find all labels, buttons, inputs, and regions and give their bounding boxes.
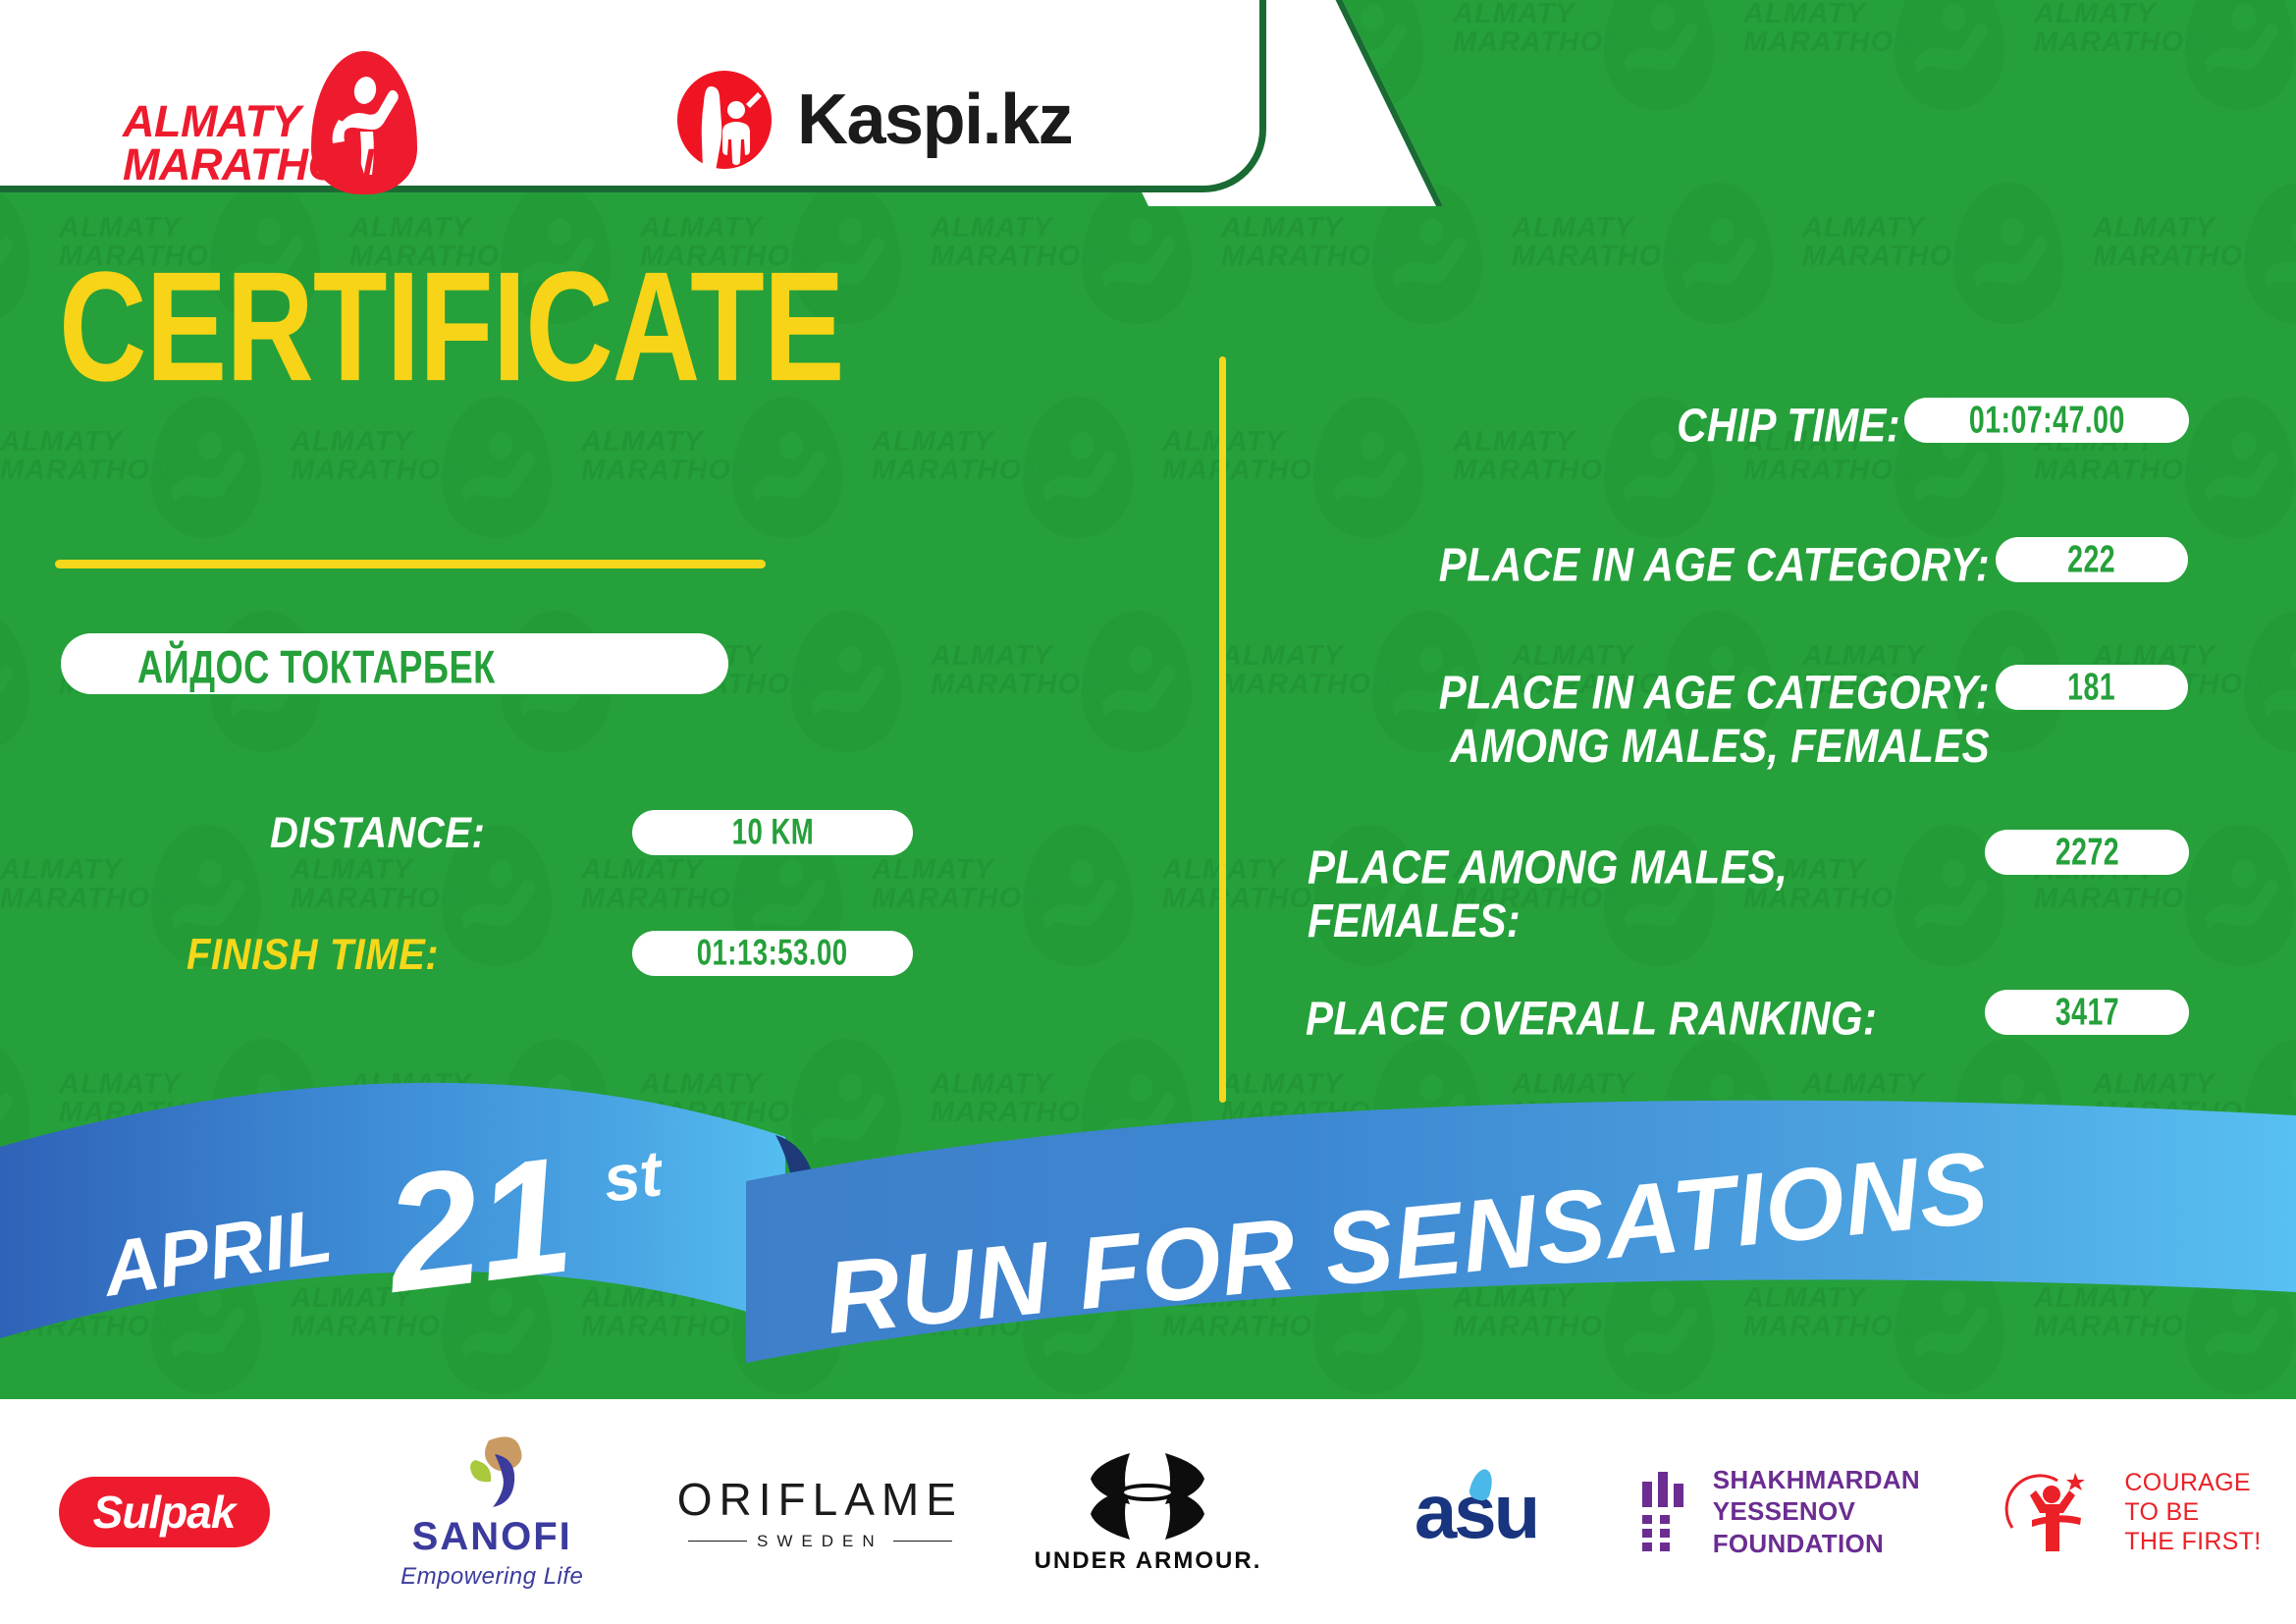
participant-name: АЙДОС ТОКТАРБЕК	[137, 642, 704, 697]
place-age-label: PLACE IN AGE CATEGORY:	[1312, 538, 1990, 591]
under-armour-logo: UNDER ARMOUR.	[1035, 1449, 1262, 1575]
oriflame-subtitle: SWEDEN	[677, 1532, 963, 1551]
oriflame-wordmark: ORIFLAME	[677, 1473, 963, 1526]
header-panel: ALMATY MARATHON Kaspi.kz	[0, 0, 1404, 192]
finish-time-label: FINISH TIME:	[187, 931, 439, 980]
courage-line-3: THE FIRST!	[2124, 1527, 2261, 1556]
kaspi-logo: Kaspi.kz	[677, 65, 1072, 175]
finish-time-value-pill: 01:13:53.00	[632, 931, 913, 976]
sulpak-logo: Sulpak	[59, 1477, 270, 1547]
place-age-gender-label: PLACE IN AGE CATEGORY: AMONG MALES, FEMA…	[1312, 666, 1990, 772]
almaty-marathon-logo: ALMATY MARATHON	[123, 61, 447, 179]
almaty-line: ALMATY	[123, 100, 378, 143]
ribbon-day: 21	[373, 1121, 580, 1327]
certificate-page: ALMATYMARATHONALMATYMARATHONALMATYMARATH…	[0, 0, 2296, 1624]
title-underline	[55, 560, 766, 568]
vertical-divider	[1219, 356, 1226, 1103]
courage-line-2: TO BE	[2124, 1497, 2261, 1527]
chip-time-label: CHIP TIME:	[1311, 399, 1900, 452]
place-age-value: 222	[2068, 538, 2116, 582]
page-title: CERTIFICATE	[59, 249, 775, 406]
chip-time-value-pill: 01:07:47.00	[1904, 398, 2189, 443]
courage-runner-icon	[2002, 1463, 2112, 1561]
sponsor-under-armour: UNDER ARMOUR.	[984, 1434, 1311, 1591]
sponsor-courage: COURAGE TO BE THE FIRST!	[1968, 1434, 2296, 1591]
sanofi-tagline: Empowering Life	[400, 1563, 583, 1591]
sponsor-asu: asu	[1312, 1434, 1640, 1591]
asu-logo: asu	[1415, 1467, 1537, 1556]
kaspi-wordmark: Kaspi.kz	[797, 80, 1072, 160]
sponsor-sanofi: SANOFI Empowering Life	[328, 1434, 656, 1591]
courage-line-1: COURAGE	[2124, 1468, 2261, 1497]
place-overall-value: 3417	[2055, 991, 2118, 1035]
place-age-gender-value: 181	[2068, 666, 2116, 710]
distance-value: 10 KM	[731, 812, 814, 854]
place-age-value-pill: 222	[1996, 537, 2188, 582]
yessenov-wordmark: SHAKHMARDAN YESSENOV FOUNDATION	[1713, 1464, 1968, 1560]
sponsor-sulpak: Sulpak	[0, 1434, 328, 1591]
yessenov-foundation-logo: SHAKHMARDAN YESSENOV FOUNDATION	[1640, 1464, 1968, 1560]
yessenov-mark-icon	[1640, 1470, 1691, 1554]
under-armour-wordmark: UNDER ARMOUR.	[1035, 1547, 1262, 1575]
sanofi-logo: SANOFI Empowering Life	[400, 1433, 583, 1591]
courage-to-be-the-first-logo: COURAGE TO BE THE FIRST!	[2002, 1463, 2261, 1561]
sponsor-oriflame: ORIFLAME SWEDEN	[656, 1434, 984, 1591]
finish-time-value: 01:13:53.00	[697, 933, 848, 975]
divider-line-left	[688, 1541, 747, 1543]
sanofi-wordmark: SANOFI	[400, 1515, 583, 1559]
distance-value-pill: 10 KM	[632, 810, 913, 855]
ribbon-banner: APRIL 21 st RUN FOR SENSATIONS	[0, 1078, 2296, 1402]
marathon-line: MARATHON	[123, 143, 378, 187]
chip-time-value: 01:07:47.00	[1969, 399, 2125, 443]
sponsor-bar: Sulpak SANOFI Empowering Life ORIFLAME S…	[0, 1399, 2296, 1624]
divider-line-right	[893, 1541, 952, 1543]
place-overall-label: PLACE OVERALL RANKING:	[1306, 992, 1993, 1045]
place-among-gender-value: 2272	[2055, 831, 2118, 875]
courage-wordmark: COURAGE TO BE THE FIRST!	[2124, 1468, 2261, 1556]
oriflame-logo: ORIFLAME SWEDEN	[677, 1473, 963, 1551]
distance-label: DISTANCE:	[270, 809, 485, 858]
place-overall-value-pill: 3417	[1985, 990, 2189, 1035]
kaspi-people-icon	[677, 65, 772, 175]
place-among-gender-value-pill: 2272	[1985, 830, 2189, 875]
place-age-gender-value-pill: 181	[1996, 665, 2188, 710]
oriflame-sweden-label: SWEDEN	[757, 1532, 883, 1551]
place-among-gender-label: PLACE AMONG MALES, FEMALES:	[1308, 840, 1985, 947]
almaty-marathon-wordmark: ALMATY MARATHON	[123, 100, 378, 187]
sponsor-yessenov: SHAKHMARDAN YESSENOV FOUNDATION	[1640, 1434, 1968, 1591]
